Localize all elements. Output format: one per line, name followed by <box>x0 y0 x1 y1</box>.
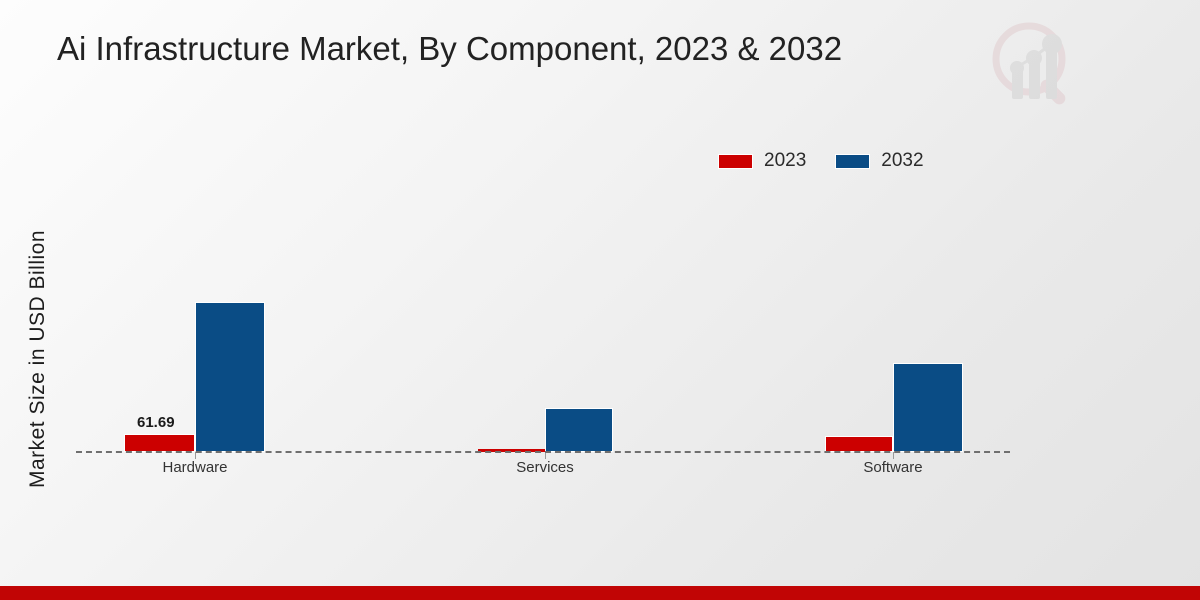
category-label-hardware: Hardware <box>135 459 255 476</box>
bar-hardware-2032[interactable] <box>195 302 265 452</box>
bar-services-2032[interactable] <box>545 408 613 452</box>
bar-software-2023[interactable] <box>825 436 893 452</box>
tick-hardware <box>195 452 196 459</box>
bar-hardware-2023[interactable] <box>124 434 195 452</box>
bar-value-hardware-2023: 61.69 <box>137 414 175 431</box>
x-axis-baseline <box>76 451 1010 453</box>
category-label-services: Services <box>485 459 605 476</box>
tick-services <box>545 452 546 459</box>
chart-page: Ai Infrastructure Market, By Component, … <box>0 0 1200 600</box>
tick-software <box>893 452 894 459</box>
plot-area: 61.69 Hardware Services Software <box>0 0 1200 600</box>
footer-accent-bar <box>0 586 1200 600</box>
bar-software-2032[interactable] <box>893 363 963 452</box>
category-label-software: Software <box>833 459 953 476</box>
